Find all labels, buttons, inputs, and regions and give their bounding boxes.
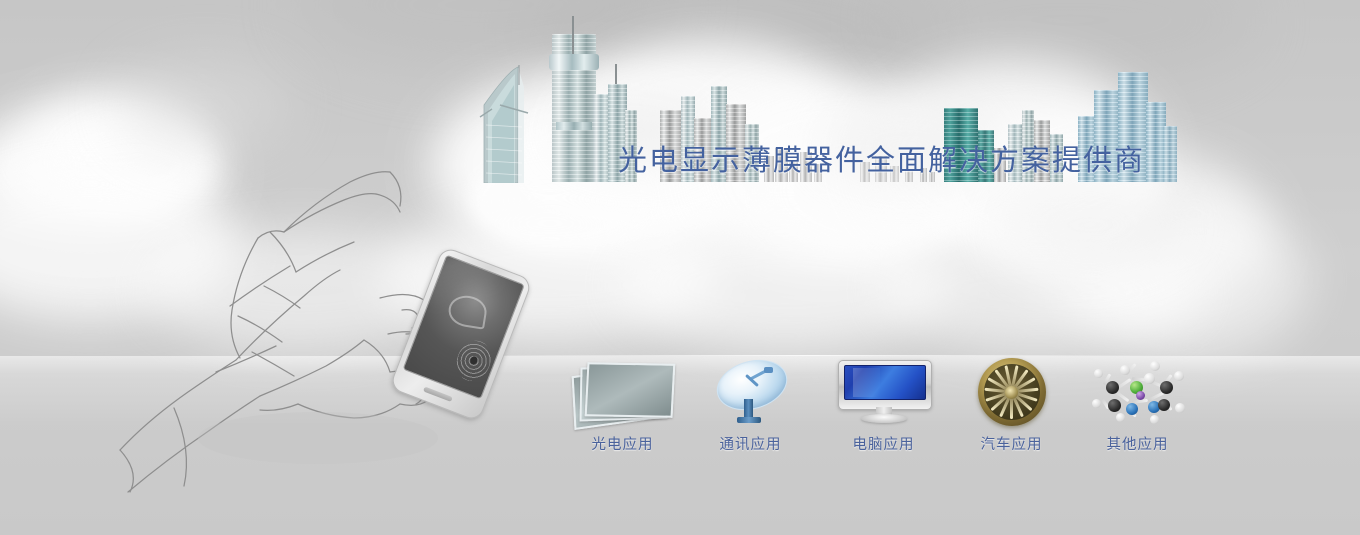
app-item-automotive[interactable]: 汽车应用 (949, 355, 1074, 465)
hand-sketch (118, 120, 478, 520)
app-item-other[interactable]: 其他应用 (1075, 355, 1200, 465)
application-icon-row: 光电应用 通讯应用 (560, 355, 1200, 465)
hero-banner: 光电显示薄膜器件全面解决方案提供商 光电应用 (0, 0, 1360, 535)
app-item-computer[interactable]: 电脑应用 (821, 355, 946, 465)
building-antenna-2 (615, 64, 617, 84)
building-band (556, 122, 592, 130)
building-main-tower-crown (549, 54, 599, 70)
app-label: 电脑应用 (821, 433, 946, 454)
molecule-model-icon (1075, 355, 1200, 427)
page-title: 光电显示薄膜器件全面解决方案提供商 (618, 137, 1138, 179)
app-label: 光电应用 (560, 433, 685, 454)
app-label: 通讯应用 (688, 433, 813, 454)
building-sail-tower (478, 65, 536, 183)
alloy-wheel-icon (949, 355, 1074, 427)
lcd-monitor-icon (821, 355, 946, 427)
glass-film-sheets-icon (560, 355, 685, 427)
app-label: 其他应用 (1075, 433, 1200, 454)
building-blue-5 (1163, 126, 1177, 182)
satellite-dish-icon (688, 355, 813, 427)
app-item-optoelectronic[interactable]: 光电应用 (560, 355, 685, 465)
app-item-communication[interactable]: 通讯应用 (688, 355, 813, 465)
app-label: 汽车应用 (949, 433, 1074, 454)
building-antenna (572, 16, 574, 54)
